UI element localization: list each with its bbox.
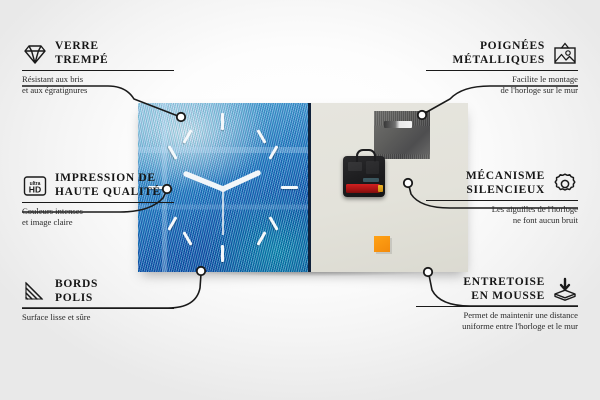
gear-icon	[552, 171, 578, 197]
callout-title-line2: HAUTE QUALITÉ	[55, 186, 161, 200]
ultra-hd-icon: ultra HD	[22, 173, 48, 199]
callout-rule	[22, 70, 174, 71]
callout-desc-line1: Facilite le montage	[418, 74, 578, 84]
callout-header: MÉCANISME SILENCIEUX	[418, 170, 578, 197]
callout-header: BORDS POLIS	[22, 278, 182, 305]
callout-title-line2: EN MOUSSE	[463, 290, 545, 304]
callout-rule	[22, 308, 174, 309]
callout-title-line1: VERRE	[55, 40, 108, 54]
callout-title-line1: MÉCANISME	[466, 170, 545, 184]
infographic-canvas: VERRE TREMPÉ Résistant aux bris et aux é…	[0, 0, 600, 400]
callout-title-line2: TREMPÉ	[55, 54, 108, 68]
hanging-frame-icon	[552, 41, 578, 67]
callout-desc-line1: Surface lisse et sûre	[22, 312, 182, 322]
callout-description: Facilite le montage de l'horloge sur le …	[418, 74, 578, 95]
callout-verre-trempe: VERRE TREMPÉ Résistant aux bris et aux é…	[22, 40, 182, 95]
callout-header: ENTRETOISE EN MOUSSE	[408, 276, 578, 303]
callout-title-line1: IMPRESSION DE	[55, 172, 161, 186]
callout-rule	[416, 306, 578, 307]
callout-title: MÉCANISME SILENCIEUX	[466, 170, 545, 197]
callout-rule	[426, 200, 578, 201]
callout-title: BORDS POLIS	[55, 278, 98, 305]
callout-desc-line1: Couleurs intenses	[22, 206, 182, 216]
callout-rule	[22, 202, 174, 203]
callout-desc-line2: et image claire	[22, 217, 182, 227]
callout-desc-line1: Résistant aux bris	[22, 74, 182, 84]
callout-description: Couleurs intenses et image claire	[22, 206, 182, 227]
callout-desc-line1: Permet de maintenir une distance	[408, 310, 578, 320]
callout-entretoise-en-mousse: ENTRETOISE EN MOUSSE Permet de maintenir…	[408, 276, 578, 331]
callout-desc-line2: uniforme entre l'horloge et le mur	[408, 321, 578, 331]
callout-desc-line1: Les aiguilles de l'horloge	[418, 204, 578, 214]
callout-description: Les aiguilles de l'horloge ne font aucun…	[418, 204, 578, 225]
callout-description: Surface lisse et sûre	[22, 312, 182, 322]
callout-title: VERRE TREMPÉ	[55, 40, 108, 67]
callout-description: Permet de maintenir une distance uniform…	[408, 310, 578, 331]
polished-edges-icon	[22, 279, 48, 305]
callout-mecanisme-silencieux: MÉCANISME SILENCIEUX Les aiguilles de l'…	[418, 170, 578, 225]
callout-title-line2: MÉTALLIQUES	[453, 54, 545, 68]
callout-title-line1: ENTRETOISE	[463, 276, 545, 290]
callout-title: POIGNÉES MÉTALLIQUES	[453, 40, 545, 67]
callout-title-line2: POLIS	[55, 292, 98, 306]
callout-bords-polis: BORDS POLIS Surface lisse et sûre	[22, 278, 182, 323]
foam-spacer-icon	[552, 277, 578, 303]
callout-poignees-metalliques: POIGNÉES MÉTALLIQUES Facilite le montage…	[418, 40, 578, 95]
callout-rule	[426, 70, 578, 71]
callout-desc-line2: et aux égratignures	[22, 85, 182, 95]
callout-desc-line2: ne font aucun bruit	[418, 215, 578, 225]
callout-header: ultra HD IMPRESSION DE HAUTE QUALITÉ	[22, 172, 182, 199]
callout-title-line1: BORDS	[55, 278, 98, 292]
callout-title-line2: SILENCIEUX	[466, 184, 545, 198]
callout-header: VERRE TREMPÉ	[22, 40, 182, 67]
callout-header: POIGNÉES MÉTALLIQUES	[418, 40, 578, 67]
callout-description: Résistant aux bris et aux égratignures	[22, 74, 182, 95]
callout-title: IMPRESSION DE HAUTE QUALITÉ	[55, 172, 161, 199]
callout-title: ENTRETOISE EN MOUSSE	[463, 276, 545, 303]
callout-desc-line2: de l'horloge sur le mur	[418, 85, 578, 95]
diamond-icon	[22, 41, 48, 67]
callout-title-line1: POIGNÉES	[453, 40, 545, 54]
ultra-hd-icon-bottom-label: HD	[29, 184, 41, 194]
callout-impression-haute-qualite: ultra HD IMPRESSION DE HAUTE QUALITÉ Cou…	[22, 172, 182, 227]
